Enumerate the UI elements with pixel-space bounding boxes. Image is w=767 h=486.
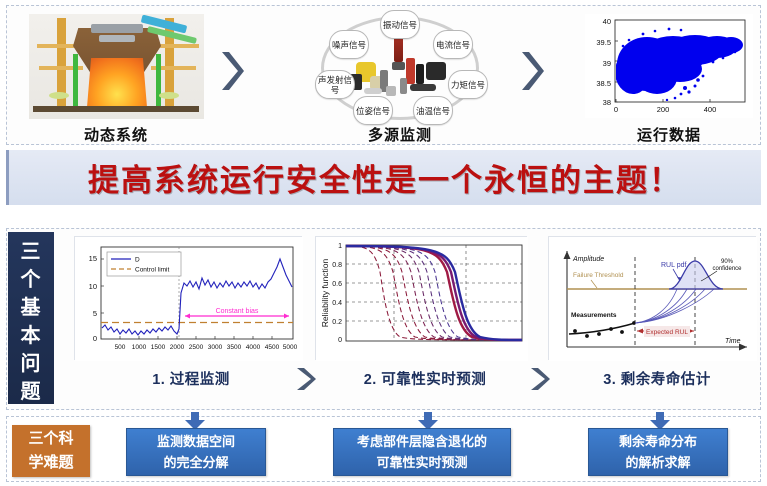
process-monitoring-chart: 15 10 5 0 5001000 15002000 25003000 3500… [74,236,302,360]
orange-box-line: 学难题 [12,451,90,475]
vbanner-char: 题 [8,378,54,406]
svg-text:5000: 5000 [283,344,298,351]
svg-text:38: 38 [603,98,611,107]
svg-text:40: 40 [603,17,611,26]
signal-text: 油温信号 [416,106,450,116]
chevron-right-icon [528,366,550,392]
svg-text:39.5: 39.5 [596,38,611,47]
chevron-right-icon [294,366,316,392]
svg-text:39: 39 [603,59,611,68]
svg-text:10: 10 [89,282,97,291]
headline-text: 提高系统运行安全性是一个永恒的主题！ [88,155,682,200]
step-label-rul-estimation: 3. 剩余寿命估计 [562,368,752,389]
svg-text:200: 200 [657,105,670,114]
blast-furnace-illustration [29,14,204,119]
signal-text: 声发射信号 [316,75,354,95]
svg-text:Reliability function: Reliability function [320,258,330,327]
signal-label-current: 电流信号 [433,30,473,59]
signal-text: 力矩信号 [451,80,485,90]
svg-text:3500: 3500 [227,344,242,351]
svg-text:Control limit: Control limit [135,267,170,274]
svg-text:Time: Time [725,338,741,345]
vbanner-char: 基 [8,294,54,322]
challenge-line: 监测数据空间 [157,431,235,452]
caption-dynamic-system: 动态系统 [7,124,225,145]
caption-operating-data: 运行数据 [579,124,759,145]
headline-banner: 提高系统运行安全性是一个永恒的主题！ [6,150,761,205]
signal-label-acoustic-emission: 声发射信号 [315,70,355,99]
svg-text:1500: 1500 [151,344,166,351]
svg-text:38.5: 38.5 [596,79,611,88]
multi-sensor-ring: 振动信号 电流信号 力矩信号 油温信号 位姿信号 声发射信号 噪声信号 [295,12,505,124]
svg-text:400: 400 [704,105,717,114]
slide-root: 动态系统 振动信号 [0,0,767,486]
vbanner-char: 问 [8,350,54,378]
svg-text:0.6: 0.6 [332,281,342,288]
svg-text:Failure Threshold: Failure Threshold [573,272,624,279]
svg-text:Constant bias: Constant bias [216,308,259,315]
chevron-right-icon [218,48,244,94]
signal-text: 噪声信号 [332,40,366,50]
challenge-box-component-degradation-reliability: 考虑部件层隐含退化的 可靠性实时预测 [333,428,511,476]
orange-box-three-scientific-challenges: 三个科 学难题 [12,425,90,477]
svg-text:4000: 4000 [246,344,261,351]
svg-text:4500: 4500 [265,344,280,351]
svg-text:5: 5 [93,309,97,318]
signal-label-noise: 噪声信号 [329,30,369,59]
svg-text:2000: 2000 [170,344,185,351]
reliability-prediction-chart: 1 0.8 0.6 0.4 0.2 0 Reliability function [315,236,527,360]
svg-text:0.4: 0.4 [332,300,342,307]
svg-text:1: 1 [338,243,342,250]
remaining-useful-life-chart: Amplitude Time Failure Threshold Measure… [548,236,756,360]
orange-box-line: 三个科 [12,427,90,451]
challenge-box-monitoring-data-decomposition: 监测数据空间 的完全分解 [126,428,266,476]
svg-text:1000: 1000 [132,344,147,351]
svg-text:0: 0 [338,337,342,344]
svg-text:0: 0 [93,334,97,343]
svg-text:15: 15 [89,254,97,263]
vertical-banner-three-basic-questions: 三 个 基 本 问 题 [8,232,54,404]
caption-multi-source-monitoring: 多源监测 [295,124,505,145]
step-label-reliability-prediction: 2. 可靠性实时预测 [330,368,520,389]
step-label-process-monitoring: 1. 过程监测 [96,368,286,389]
svg-text:D: D [135,257,140,264]
svg-text:0: 0 [614,105,618,114]
svg-text:90%: 90% [721,259,734,265]
top-flow-panel: 动态系统 振动信号 [6,5,761,145]
svg-text:3000: 3000 [208,344,223,351]
signal-label-vibration: 振动信号 [380,10,420,39]
signal-text: 振动信号 [383,20,417,30]
vbanner-char: 三 [8,238,54,266]
operating-data-scatter-chart: 40 39.5 39 38.5 38 0 200 400 [585,14,753,118]
challenge-box-rul-distribution-solution: 剩余寿命分布 的解析求解 [588,428,728,476]
vbanner-char: 个 [8,266,54,294]
svg-text:2500: 2500 [189,344,204,351]
svg-text:Expected RUL: Expected RUL [646,329,688,336]
signal-label-pose: 位姿信号 [353,96,393,125]
signal-text: 位姿信号 [356,106,390,116]
signal-text: 电流信号 [436,40,470,50]
svg-text:RUL pdf: RUL pdf [661,262,686,269]
challenge-line: 考虑部件层隐含退化的 [357,431,487,452]
signal-label-oil-temperature: 油温信号 [413,96,453,125]
signal-label-torque: 力矩信号 [448,70,488,99]
svg-text:0.8: 0.8 [332,262,342,269]
svg-text:Measurements: Measurements [571,312,617,319]
svg-text:500: 500 [115,344,126,351]
challenge-line: 的解析求解 [625,452,690,473]
svg-text:Amplitude: Amplitude [572,256,604,263]
challenge-line: 剩余寿命分布 [619,431,697,452]
challenge-line: 可靠性实时预测 [376,452,467,473]
svg-text:0.2: 0.2 [332,319,342,326]
challenge-line: 的完全分解 [163,452,228,473]
vbanner-char: 本 [8,322,54,350]
chevron-right-icon [518,48,544,94]
